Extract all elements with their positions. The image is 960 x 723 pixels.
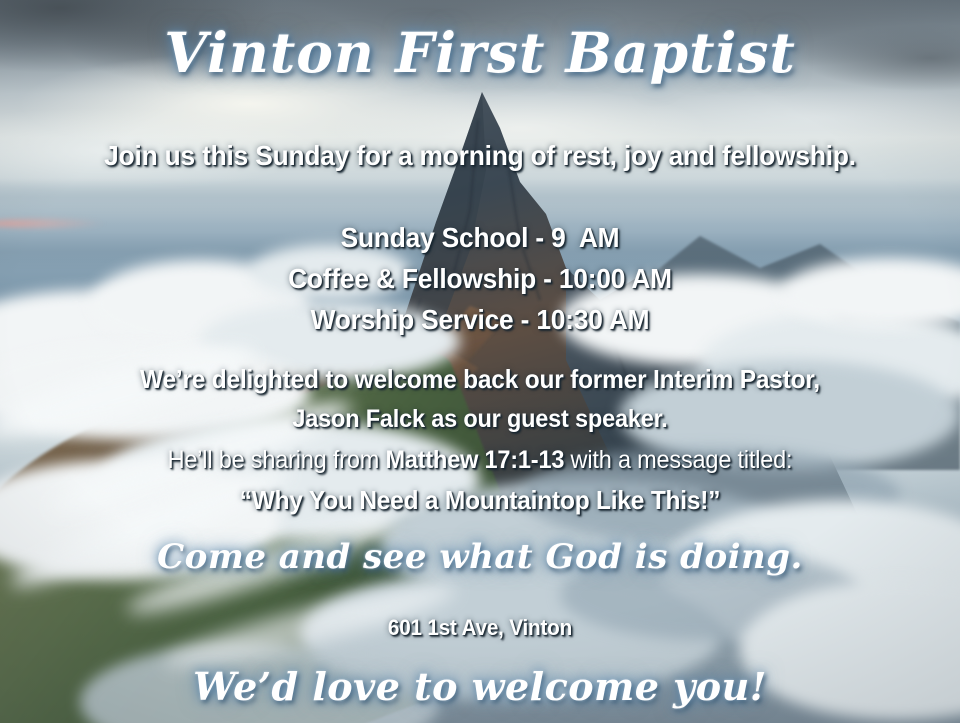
address-line: 601 1st Ave, Vinton: [29, 614, 931, 642]
call-to-action: Come and see what God is doing.: [0, 535, 960, 579]
invitation-line: Join us this Sunday for a morning of res…: [29, 139, 931, 173]
speaker-welcome-line: We’re delighted to welcome back our form…: [29, 363, 931, 395]
scripture-reference: Matthew 17:1-13: [386, 446, 565, 474]
church-announcement-poster: Vinton First Baptist Join us this Sunday…: [0, 0, 960, 723]
scripture-prefix: He’ll be sharing from: [168, 446, 386, 474]
scripture-line: He’ll be sharing from Matthew 17:1-13 wi…: [29, 445, 931, 476]
poster-text-content: Vinton First Baptist Join us this Sunday…: [0, 0, 960, 723]
page-title: Vinton First Baptist: [0, 22, 960, 84]
scripture-suffix: with a message titled:: [564, 446, 792, 474]
schedule-item-sunday-school: Sunday School - 9 AM: [29, 221, 931, 255]
schedule-item-worship-service: Worship Service - 10:30 AM: [29, 303, 931, 337]
speaker-name-line: Jason Falck as our guest speaker.: [29, 404, 931, 435]
sermon-title: “Why You Need a Mountaintop Like This!”: [29, 484, 931, 516]
schedule-item-coffee-fellowship: Coffee & Fellowship - 10:00 AM: [29, 262, 931, 296]
closing-line: We’d love to welcome you!: [0, 662, 960, 712]
